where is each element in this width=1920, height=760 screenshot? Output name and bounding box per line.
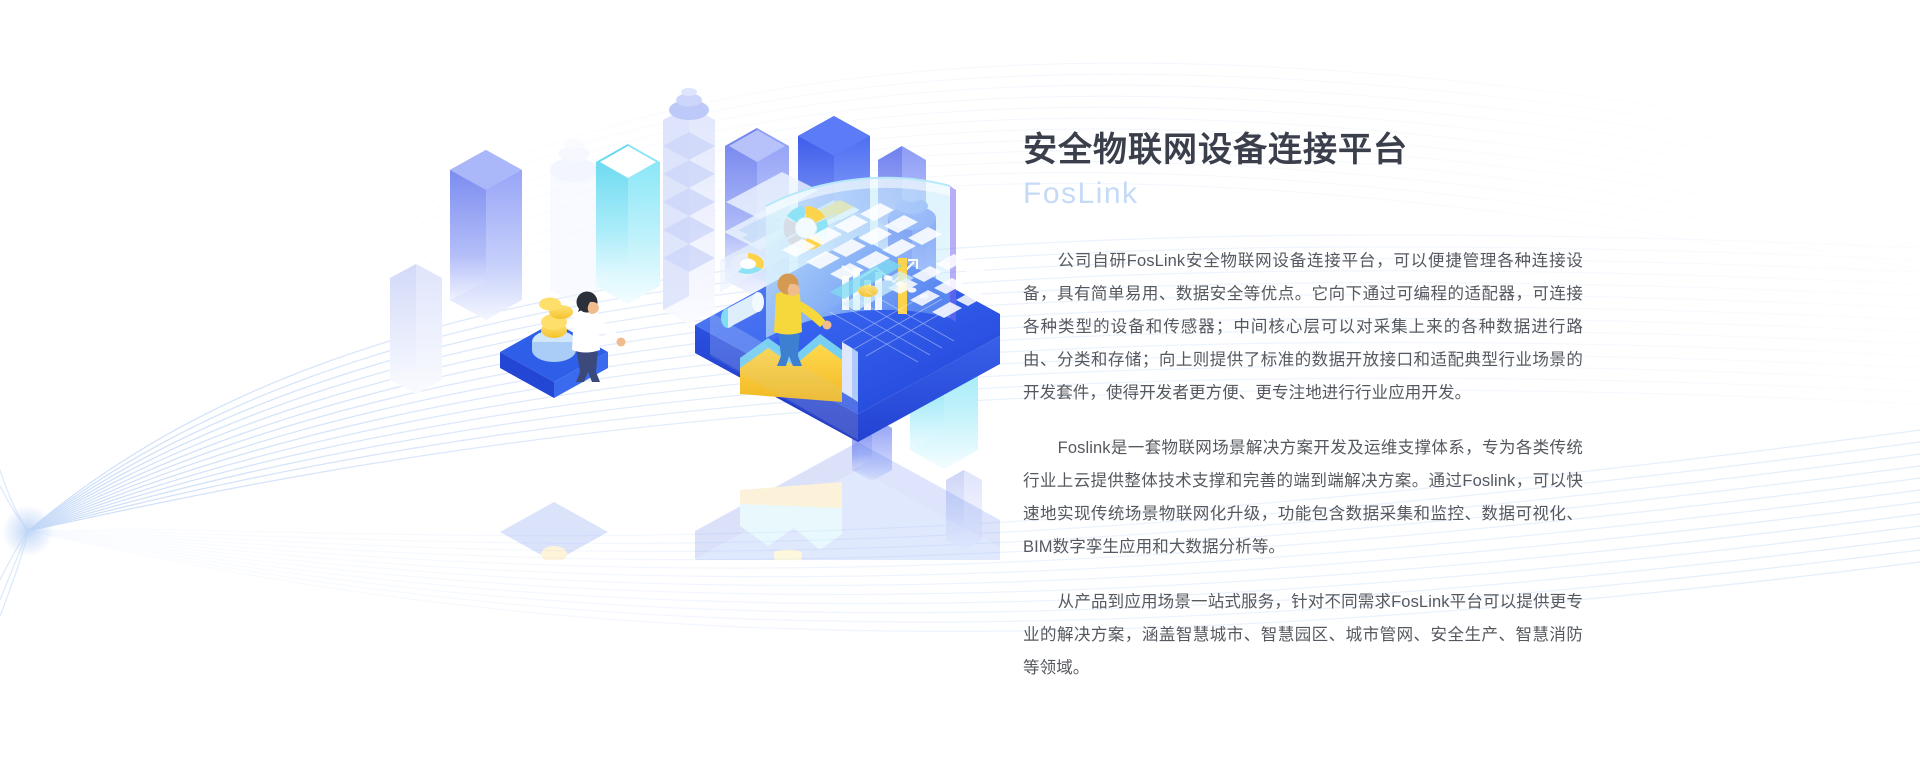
page-title: 安全物联网设备连接平台 (1023, 130, 1583, 171)
paragraph-3: 从产品到应用场景一站式服务，针对不同需求FosLink平台可以提供更专业的解决方… (1023, 586, 1583, 685)
paragraph-1: 公司自研FosLink安全物联网设备连接平台，可以便捷管理各种连接设备，具有简单… (1023, 245, 1583, 410)
paragraph-2: Foslink是一套物联网场景解决方案开发及运维支撑体系，专为各类传统行业上云提… (1023, 432, 1583, 564)
platform-reflection (500, 442, 1000, 560)
mini-donut-chart (731, 253, 765, 275)
hero-section: 安全物联网设备连接平台 FosLink 公司自研FosLink安全物联网设备连接… (0, 0, 1920, 760)
hero-copy: 安全物联网设备连接平台 FosLink 公司自研FosLink安全物联网设备连接… (1023, 130, 1583, 685)
building-ghost-tower (550, 139, 598, 302)
wave-tail-left (0, 470, 28, 616)
description-paragraphs: 公司自研FosLink安全物联网设备连接平台，可以便捷管理各种连接设备，具有简单… (1023, 245, 1583, 685)
hero-illustration (390, 50, 1000, 560)
gold-disc (858, 285, 878, 297)
building-pale-left (390, 264, 442, 394)
wave-convergence-node (2, 505, 54, 557)
building-violet-1 (450, 150, 522, 320)
building-cyan-1 (596, 144, 660, 304)
building-stepped-tower (663, 88, 715, 324)
product-name-subtitle: FosLink (1023, 174, 1583, 213)
